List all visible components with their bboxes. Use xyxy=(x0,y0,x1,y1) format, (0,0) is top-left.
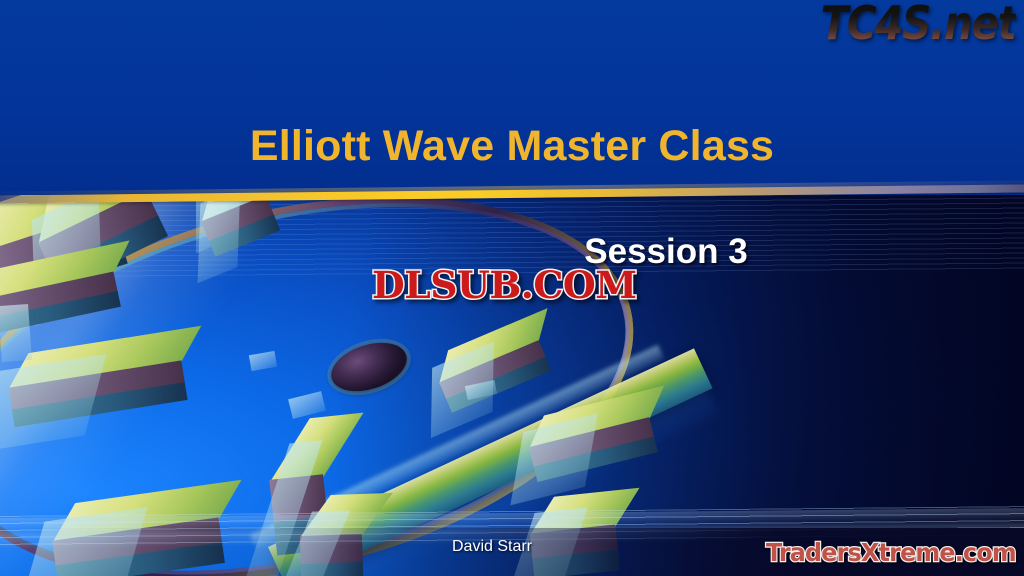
watermark-tc4s: TC4S.net xyxy=(821,0,1016,50)
page-title: Elliott Wave Master Class xyxy=(0,122,1024,171)
accent-tile-3 xyxy=(0,304,32,362)
watermark-tradersxtreme: TradersXtreme.com xyxy=(766,538,1016,567)
slide-canvas: Elliott Wave Master Class Session 3 Davi… xyxy=(0,0,1024,576)
presenter-name-text: David Starr xyxy=(452,538,532,555)
watermark-dlsub: DLSUB.COM xyxy=(372,263,637,307)
